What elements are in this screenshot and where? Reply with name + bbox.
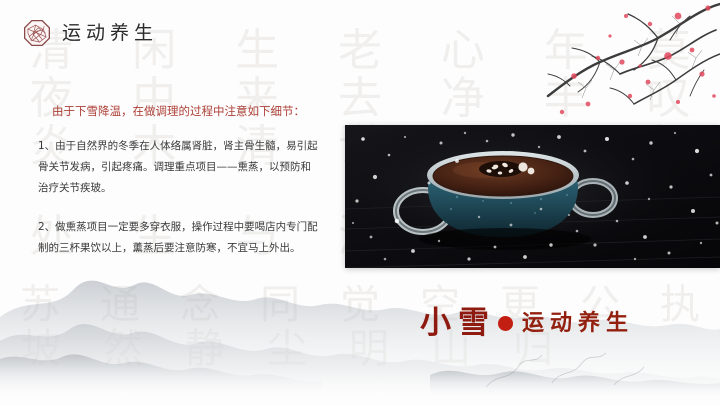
lead-paragraph: 由于下雪降温，在做调理的过程中注意如下细节： — [38, 100, 320, 122]
solar-term-label: 小雪 — [420, 308, 496, 339]
watermark-char: 叹 — [617, 62, 720, 126]
watermark-char: 心 — [411, 14, 514, 78]
watermark-char: 然 — [82, 316, 164, 374]
watermark-char: 坡 — [0, 316, 82, 374]
watermark-char: 莫 — [617, 14, 720, 78]
watermark-char: 静 — [164, 316, 246, 374]
watermark-char: 明 — [328, 316, 410, 374]
plum-blossom-branch-icon — [530, 0, 720, 120]
octagon-crosshatch-seal-icon — [24, 20, 50, 46]
watermark-char: 老 — [309, 14, 412, 78]
footer-title: 小雪 运动养生 — [420, 308, 634, 339]
watermark-char: 生 — [206, 14, 309, 78]
content-column: 由于下雪降温，在做调理的过程中注意如下细节： 1、由于自然界的冬季在人体络属肾脏… — [38, 100, 320, 259]
watermark-char: 念 — [160, 272, 240, 330]
watermark-char: 同 — [240, 272, 320, 330]
watermark-char: 通 — [80, 272, 160, 330]
body-paragraph-2: 2、做熏蒸项目一定要多穿衣服，操作过程中要喝店内专门配制的三杯果饮以上，薰蒸后要… — [38, 217, 320, 259]
watermark-char: 年 — [514, 14, 617, 78]
watermark-char: 净 — [411, 62, 514, 126]
page-title: 运动养生 — [62, 24, 158, 43]
red-dot-icon — [498, 316, 513, 331]
footer-subtitle: 运动养生 — [522, 313, 634, 335]
watermark-char: 觉 — [320, 272, 400, 330]
watermark-char: 丰 — [514, 62, 617, 126]
watermark-char: 执 — [640, 272, 720, 330]
hero-photo — [345, 125, 720, 268]
watermark-char: 去 — [309, 62, 412, 126]
body-paragraph-1: 1、由于自然界的冬季在人体络属肾脏，肾主骨生髓，易引起骨关节发病，引起疼痛。调理… — [38, 136, 320, 199]
slide-header: 运动养生 — [24, 20, 158, 46]
watermark-char: 尘 — [246, 316, 328, 374]
watermark-char: 苏 — [0, 272, 80, 330]
slide-canvas: 清 闲 生 老 心 年 莫 夜 中 来 去 净 丰 叹 炎 木 清 说 需 涤 … — [0, 0, 720, 405]
